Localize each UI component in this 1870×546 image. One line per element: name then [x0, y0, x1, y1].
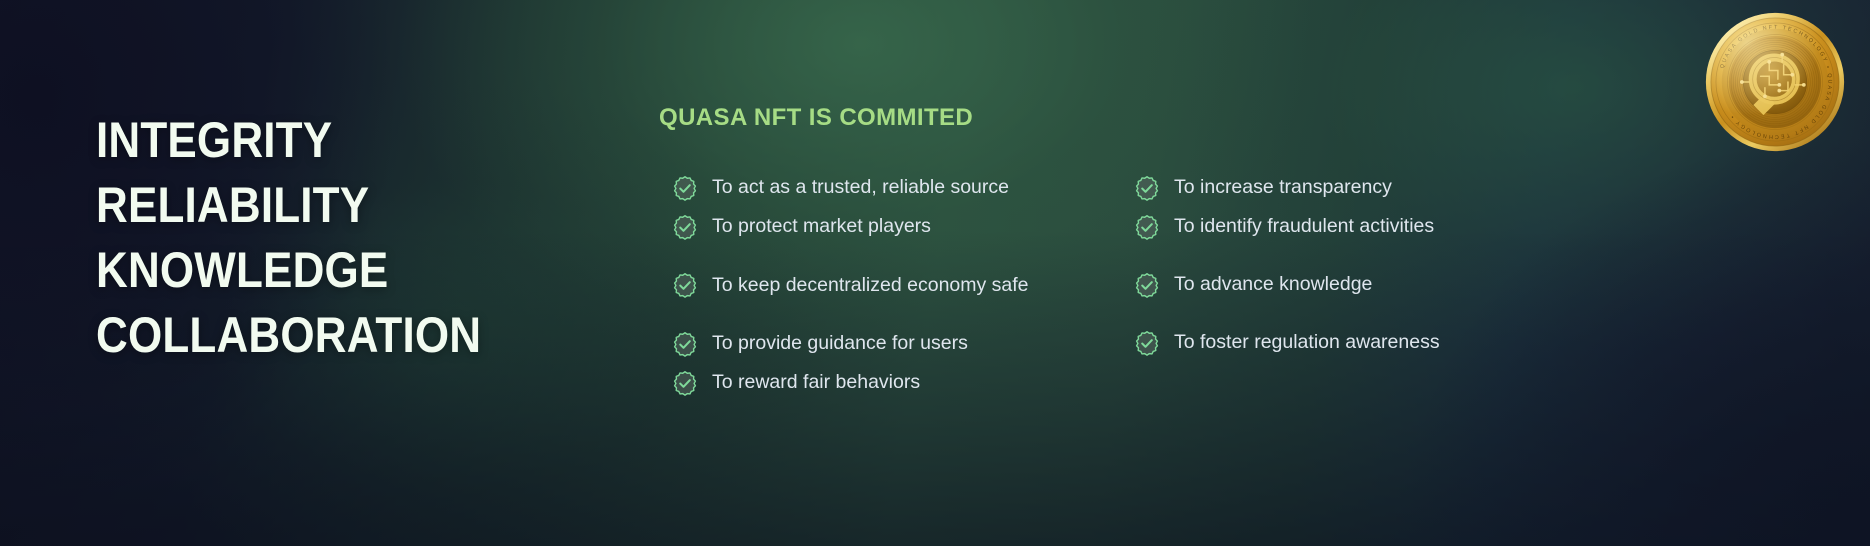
- list-item-label: To reward fair behaviors: [712, 363, 920, 402]
- headline-values-list: INTEGRITY RELIABILITY KNOWLEDGE COLLABOR…: [96, 108, 534, 368]
- list-item: To increase transparency: [1134, 168, 1564, 207]
- list-item-label: To advance knowledge: [1174, 265, 1372, 304]
- list-item-label: To keep decentralized economy safe: [712, 266, 1029, 304]
- coin-highlight: [1706, 13, 1844, 151]
- list-item-label: To foster regulation awareness: [1174, 323, 1440, 362]
- headline-line-reliability: RELIABILITY: [96, 173, 481, 238]
- headline-line-integrity: INTEGRITY: [96, 108, 481, 173]
- list-item-label: To act as a trusted, reliable source: [712, 168, 1009, 207]
- list-item-label: To protect market players: [712, 207, 931, 246]
- verified-badge-icon: [1134, 214, 1160, 240]
- verified-badge-icon: [1134, 175, 1160, 201]
- list-item: To keep decentralized economy safe: [672, 246, 1102, 324]
- verified-badge-icon: [1134, 330, 1160, 356]
- list-item: To foster regulation awareness: [1134, 323, 1564, 362]
- list-item-label: To increase transparency: [1174, 168, 1392, 207]
- commitments-list: To act as a trusted, reliable source To …: [672, 168, 1832, 402]
- list-item: To provide guidance for users: [672, 324, 1102, 363]
- quasa-gold-coin-logo: QUASA GOLD NFT TECHNOLOGY • QUASA GOLD N…: [1703, 10, 1847, 154]
- list-item: To identify fraudulent activities: [1134, 207, 1564, 246]
- commitments-column-left: To act as a trusted, reliable source To …: [672, 168, 1102, 402]
- verified-badge-icon: [672, 370, 698, 396]
- list-item-label: To identify fraudulent activities: [1174, 207, 1434, 246]
- list-item: To act as a trusted, reliable source: [672, 168, 1102, 207]
- verified-badge-icon: [672, 214, 698, 240]
- list-item: To reward fair behaviors: [672, 363, 1102, 402]
- verified-badge-icon: [672, 272, 698, 298]
- verified-badge-icon: [672, 331, 698, 357]
- list-item: To protect market players: [672, 207, 1102, 246]
- list-item: To advance knowledge: [1134, 265, 1564, 304]
- commitments-column-right: To increase transparency To identify fra…: [1134, 168, 1564, 402]
- promo-banner: INTEGRITY RELIABILITY KNOWLEDGE COLLABOR…: [0, 0, 1870, 546]
- list-item-label: To provide guidance for users: [712, 324, 968, 363]
- verified-badge-icon: [1134, 272, 1160, 298]
- commitments-heading: QUASA NFT IS COMMITED: [659, 104, 973, 132]
- headline-line-collaboration: COLLABORATION: [96, 303, 481, 368]
- verified-badge-icon: [672, 175, 698, 201]
- headline-line-knowledge: KNOWLEDGE: [96, 238, 481, 303]
